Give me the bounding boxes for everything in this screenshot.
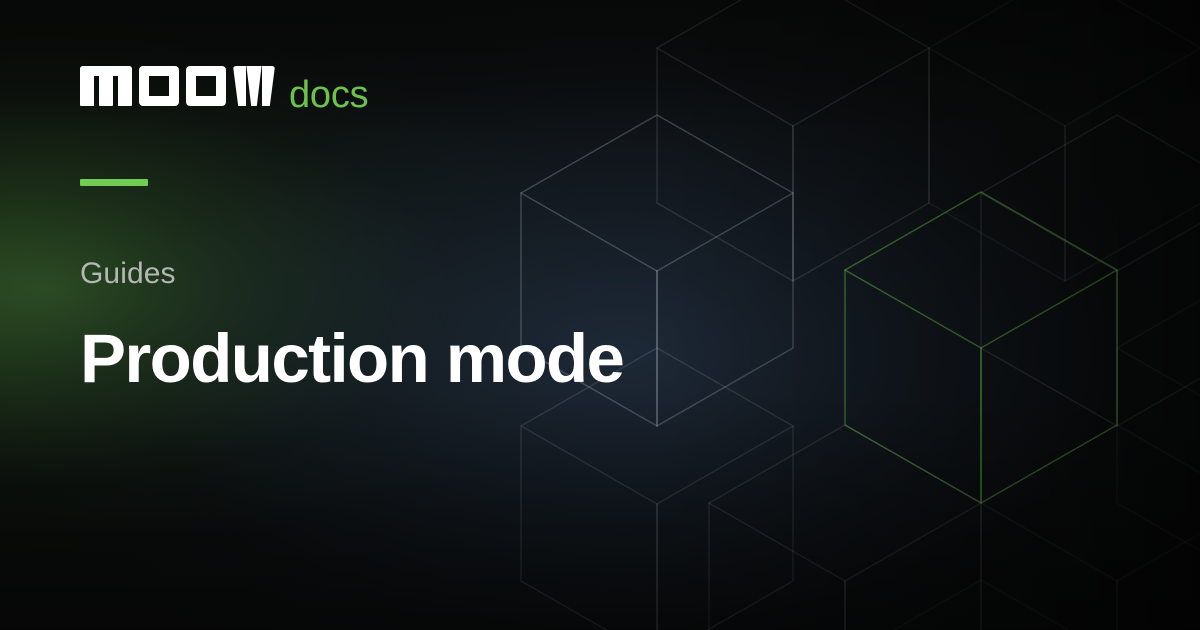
moov-logo-letter-o — [139, 66, 179, 106]
accent-bar — [80, 179, 148, 186]
page-title: Production mode — [80, 320, 623, 397]
og-card: docs Guides Production mode — [0, 0, 1200, 630]
cube-center-accent-top-face — [845, 192, 1117, 348]
category-eyebrow: Guides — [80, 255, 176, 293]
cube-top-right — [929, 0, 1200, 281]
cube-bottom-right-far-left-face — [1117, 348, 1200, 581]
moov-logo-letter-m — [80, 66, 132, 106]
cube-bottom-right-far — [1117, 270, 1200, 581]
cube-bottom-center-top-face — [845, 580, 1117, 630]
cube-top-right-right-face — [1065, 48, 1200, 281]
cube-top-right-top-face — [929, 0, 1200, 126]
moov-logo-letter-o — [186, 66, 226, 106]
cube-bottom-right-far-top-face — [1117, 270, 1200, 426]
cube-top-center-right-face — [793, 48, 929, 281]
cube-bottom-center — [845, 580, 1117, 630]
cube-upper-right-top-face — [981, 115, 1200, 271]
cube-upper-right — [981, 115, 1200, 426]
cube-upper-right-right-face — [1117, 193, 1200, 426]
cube-lower-center-right-face — [845, 503, 981, 630]
card-content: docs Guides Production mode — [80, 0, 780, 630]
cube-top-right-left-face — [929, 48, 1065, 281]
moov-logo-letter-v — [233, 66, 275, 106]
cube-center-accent — [845, 192, 1117, 503]
cube-lower-right-left-face — [981, 503, 1117, 630]
cube-upper-right-left-face — [981, 193, 1117, 426]
cube-center-accent-left-face — [845, 270, 981, 503]
cube-lower-right-right-face — [1117, 503, 1200, 630]
logo-docs-label: docs — [289, 76, 368, 114]
cube-lower-right-top-face — [981, 425, 1200, 581]
moov-wordmark — [80, 66, 275, 106]
cube-lower-right — [981, 425, 1200, 630]
moov-docs-logo[interactable]: docs — [80, 66, 368, 118]
cube-center-accent-right-face — [981, 270, 1117, 503]
